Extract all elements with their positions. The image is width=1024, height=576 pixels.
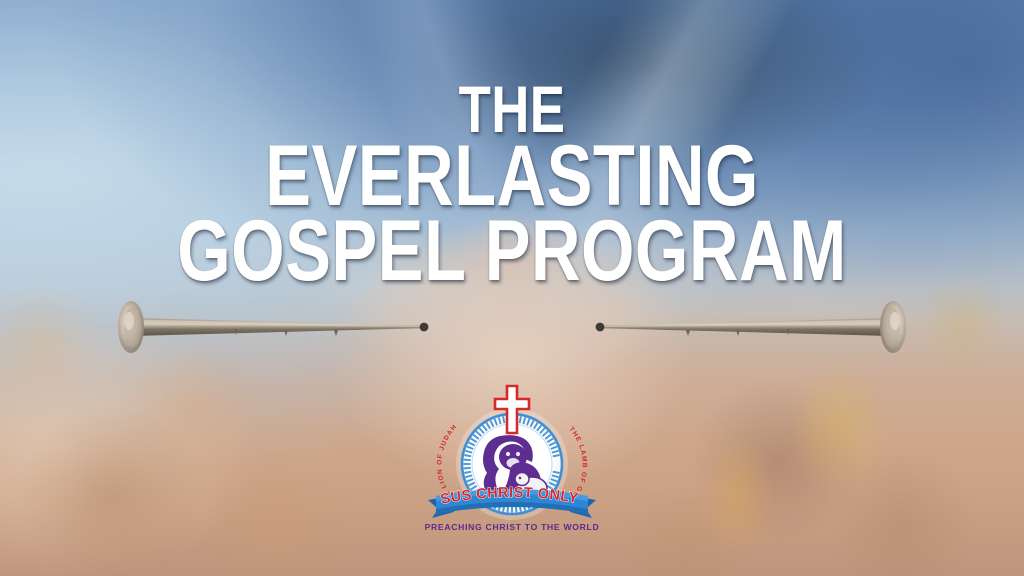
trumpet-left-icon bbox=[110, 296, 440, 356]
logo-tagline: PREACHING CHRIST TO THE WORLD bbox=[425, 522, 600, 532]
promo-banner: THE EVERLASTING GOSPEL PROGRAM bbox=[0, 0, 1024, 576]
trumpet-right-icon bbox=[584, 296, 914, 356]
channel-logo[interactable]: THE LION OF JUDAH THE LAMB OF GOD JESUS … bbox=[412, 378, 612, 548]
